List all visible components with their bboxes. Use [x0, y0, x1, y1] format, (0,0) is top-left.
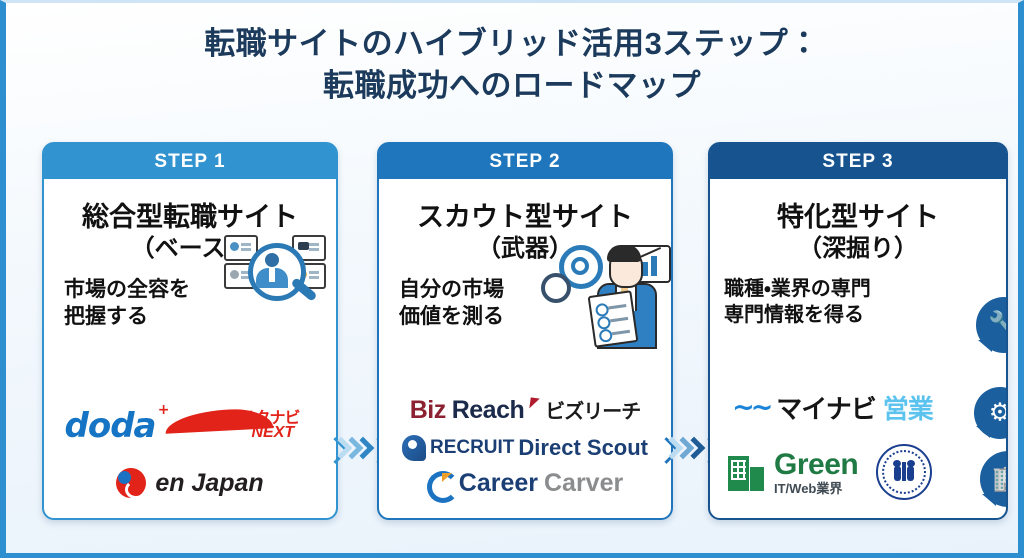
- en-japan-mark-icon: [116, 468, 146, 498]
- infographic-canvas: 転職サイトのハイブリッド活用3ステップ： 転職成功へのロードマップ STEP 1…: [0, 0, 1024, 558]
- step-subheading-3: （深掘り）: [710, 235, 1006, 263]
- step-heading-3: 特化型サイト: [710, 201, 1006, 233]
- step-body-1: 総合型転職サイト （ベース） 市場の全容を 把握する: [44, 179, 336, 520]
- step-badge-2: STEP 2: [379, 144, 671, 179]
- careercarver-mark-icon: [427, 471, 453, 497]
- logo-certification-badge: [876, 444, 932, 500]
- certification-figure-icon: [891, 460, 917, 484]
- step-heading-1: 総合型転職サイト: [44, 201, 336, 233]
- recruit-mark-icon: [402, 435, 426, 461]
- step-card-3[interactable]: STEP 3 特化型サイト （深掘り） 職種・業界の専門 専門情報を得る 🔧 ⚙…: [708, 142, 1008, 520]
- step-body-3: 特化型サイト （深掘り） 職種・業界の専門 専門情報を得る 🔧 ⚙ 🏢 ∼∼ マ…: [710, 179, 1006, 520]
- page-title: 転職サイトのハイブリッド活用3ステップ： 転職成功へのロードマップ: [6, 23, 1018, 106]
- step-description-3-line2: 専門情報を得る: [724, 303, 1006, 329]
- step-card-2[interactable]: STEP 2 スカウト型サイト （武器） 自分の市場 価値を測る: [377, 142, 673, 520]
- page-title-line1: 転職サイトのハイブリッド活用3ステップ：: [204, 26, 820, 61]
- businessman-icon: [595, 241, 657, 345]
- green-building-icon: [728, 453, 766, 491]
- clipboard-icon: [588, 290, 639, 348]
- page-title-line2: 転職成功へのロードマップ: [6, 65, 1018, 107]
- logo-career-carver: CareerCarver: [427, 469, 623, 498]
- mynavi-wave-icon: ∼∼: [732, 392, 769, 423]
- magnifier-profiles-icon: [218, 233, 330, 319]
- logo-bizreach: BizReach ビズリーチ: [410, 395, 641, 425]
- steps-row: STEP 1 総合型転職サイト （ベース） 市場の全容を 把握する: [6, 142, 1024, 530]
- step-badge-1: STEP 1: [44, 144, 336, 179]
- step-logos-1: doda+ リクナビ NEXT en Japan: [44, 402, 336, 512]
- step-logos-3: ∼∼ マイナビ 営業 Green IT/Web業界: [710, 389, 1006, 512]
- step-card-1[interactable]: STEP 1 総合型転職サイト （ベース） 市場の全容を 把握する: [42, 142, 338, 520]
- logo-rikunabi-next: リクナビ NEXT: [165, 402, 315, 450]
- businessman-clipboard-gears-icon: [541, 239, 669, 351]
- step-logos-2: BizReach ビズリーチ RECRUIT Direct Scout: [379, 395, 671, 512]
- logo-green: Green IT/Web業界: [728, 450, 858, 495]
- step-body-2: スカウト型サイト （武器） 自分の市場 価値を測る: [379, 179, 671, 520]
- logo-recruit-direct-scout: RECRUIT Direct Scout: [402, 435, 648, 461]
- step-heading-2: スカウト型サイト: [379, 201, 671, 233]
- logo-doda: doda+: [65, 406, 156, 446]
- step-badge-3: STEP 3: [710, 144, 1006, 179]
- logo-mynavi-eigyo: ∼∼ マイナビ 営業: [732, 389, 933, 426]
- step-description-3-line1: 職種・業界の専門: [724, 277, 1006, 303]
- bizreach-flag-icon: [530, 397, 540, 409]
- step-description-3: 職種・業界の専門 専門情報を得る: [724, 277, 1006, 328]
- magnifier-icon: [248, 243, 306, 301]
- gear-small-icon: [541, 273, 571, 303]
- logo-en-japan: en Japan: [116, 468, 263, 498]
